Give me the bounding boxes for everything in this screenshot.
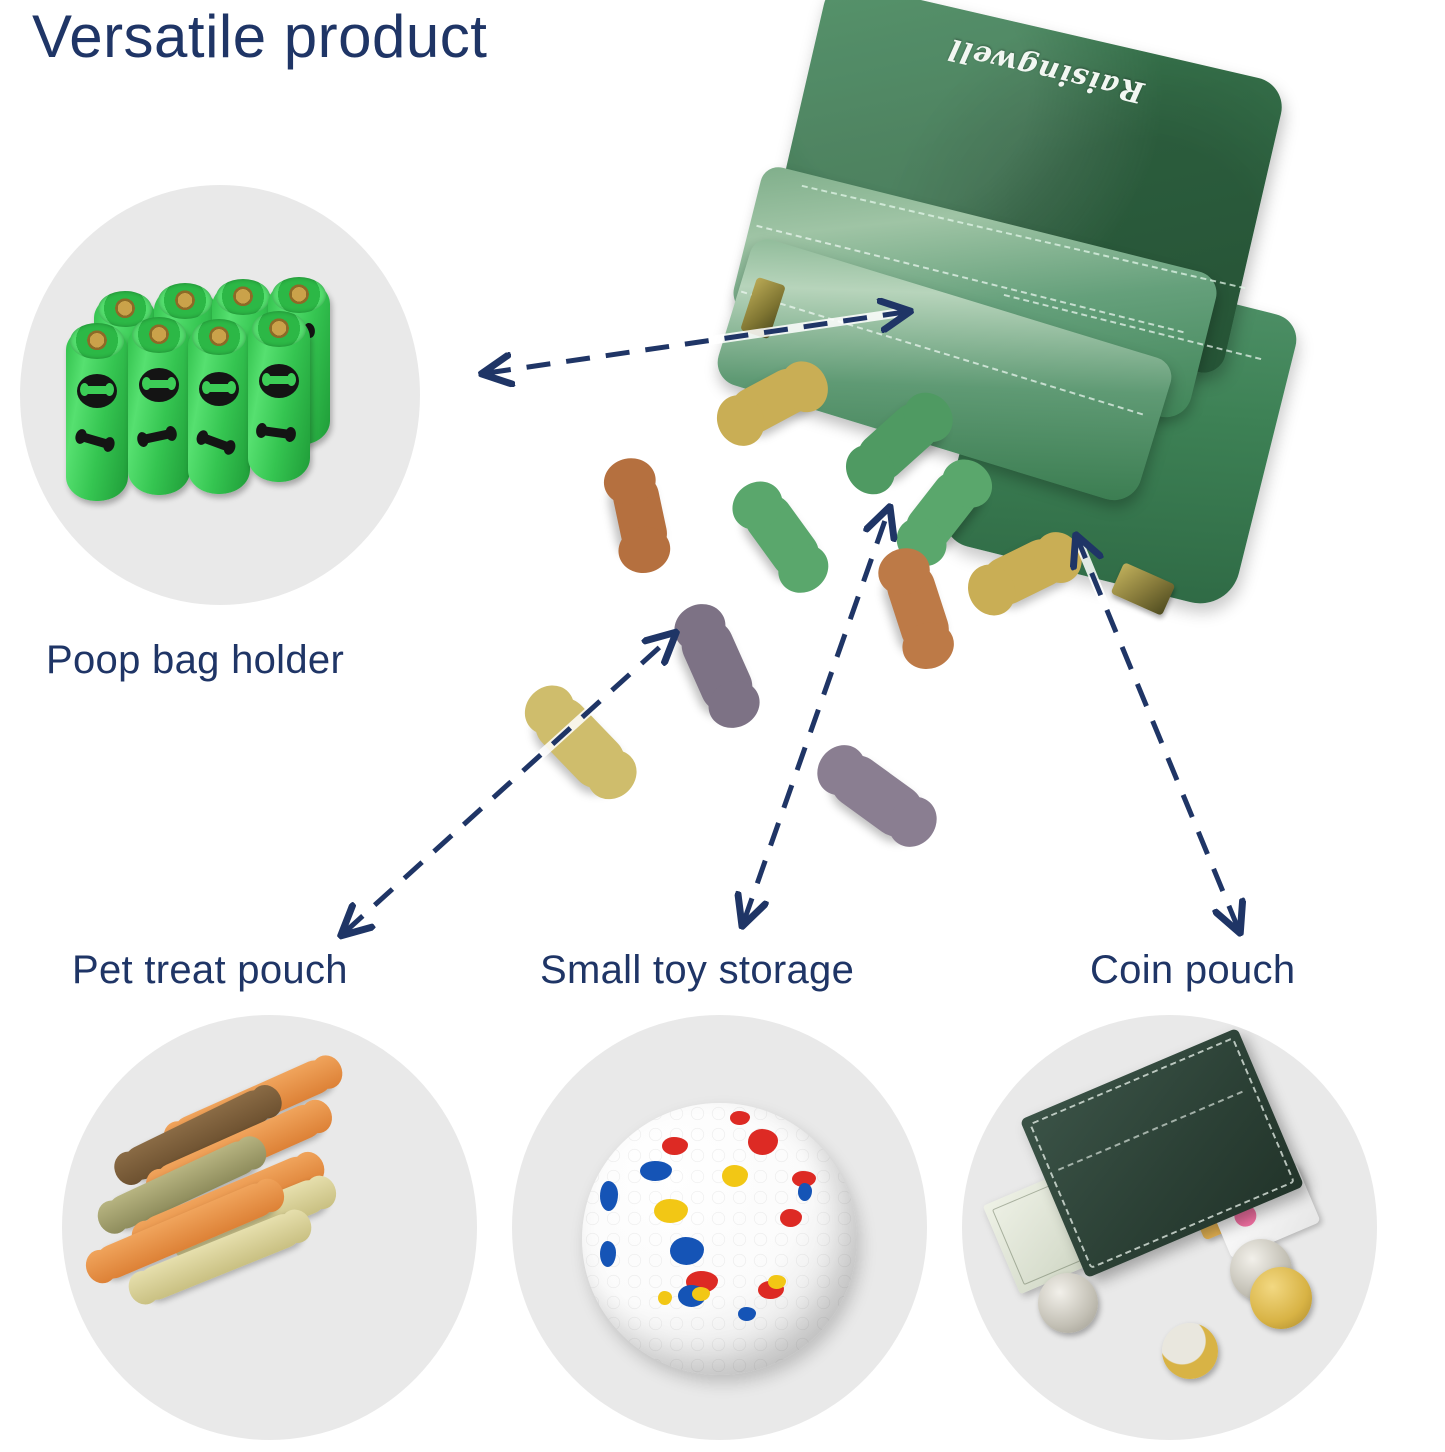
poop-bag-roll xyxy=(66,326,128,501)
poop-bag-rolls-illustration xyxy=(48,282,348,497)
roll-core-icon xyxy=(158,283,212,319)
bone-print-icon xyxy=(79,432,110,449)
bone-print-icon xyxy=(200,433,231,452)
callout-label-poop-bag-holder: Poop bag holder xyxy=(46,638,344,683)
ball-foam-texture xyxy=(582,1103,857,1375)
roll-core-icon xyxy=(132,317,186,353)
callout-label-pet-treat-pouch: Pet treat pouch xyxy=(72,948,348,993)
bone-print-icon xyxy=(77,374,117,408)
small-toy-storage-image-circle xyxy=(512,1015,927,1440)
treat-bone xyxy=(524,687,635,799)
roll-core-icon xyxy=(70,323,124,359)
page-title: Versatile product xyxy=(32,2,487,71)
roll-core-icon xyxy=(192,319,246,355)
coin-pouch-image-circle xyxy=(962,1015,1377,1440)
bone-print-icon xyxy=(139,368,179,402)
treat-bone xyxy=(609,469,671,561)
roll-core-icon xyxy=(272,277,326,313)
coin xyxy=(1038,1273,1098,1333)
bone-treats-illustration xyxy=(76,1082,386,1312)
callout-label-coin-pouch: Coin pouch xyxy=(1090,948,1295,993)
treat-bone xyxy=(820,745,933,847)
card-wallet-illustration xyxy=(1010,1061,1330,1361)
callout-label-small-toy-storage: Small toy storage xyxy=(540,948,854,993)
bone-print-icon xyxy=(259,364,299,398)
pet-treat-pouch-image-circle xyxy=(62,1015,477,1440)
coin xyxy=(1162,1323,1218,1379)
speckled-ball-toy xyxy=(582,1103,857,1375)
coin xyxy=(1250,1267,1312,1329)
infographic-canvas: Versatile product xyxy=(0,0,1445,1452)
bone-print-icon xyxy=(141,429,172,444)
poop-bag-roll xyxy=(128,320,190,495)
roll-core-icon xyxy=(252,311,306,347)
poop-bag-roll xyxy=(188,322,250,494)
bone-print-icon xyxy=(199,372,239,406)
bone-print-icon xyxy=(261,426,292,439)
roll-core-icon xyxy=(216,279,270,315)
poop-bag-holder-image-circle xyxy=(20,185,420,605)
poop-bag-roll xyxy=(248,314,310,482)
